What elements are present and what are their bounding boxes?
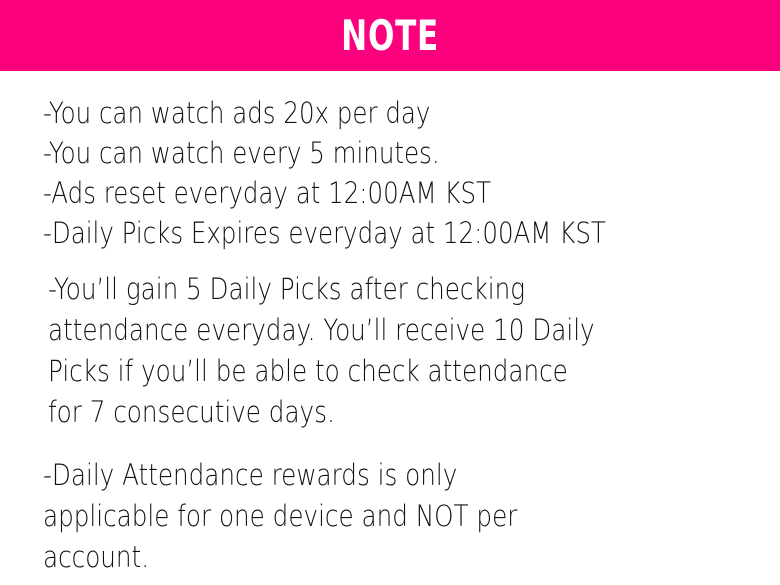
note-line: for 7 consecutive days. [48, 392, 670, 433]
note-body: -You can watch ads 20x per day -You can … [0, 71, 780, 585]
note-line: account. [43, 537, 669, 578]
note-header-band: NOTE [0, 0, 780, 71]
note-card: NOTE -You can watch ads 20x per day -You… [0, 0, 780, 585]
note-block-daily-picks: -You’ll gain 5 Daily Picks after checkin… [0, 253, 780, 433]
note-line: -Daily Attendance rewards is only [43, 455, 669, 496]
note-line: -You’ll gain 5 Daily Picks after checkin… [48, 269, 670, 310]
page-title: NOTE [341, 15, 439, 57]
note-line: attendance everyday. You’ll receive 10 D… [48, 310, 670, 351]
note-line: -You can watch ads 20x per day [43, 93, 666, 133]
note-block-attendance: -Daily Attendance rewards is only applic… [0, 433, 780, 578]
note-line: -You can watch every 5 minutes. [43, 133, 666, 173]
note-block-rules: -You can watch ads 20x per day -You can … [0, 71, 780, 253]
note-line: -Daily Picks Expires everyday at 12:00AM… [43, 213, 666, 253]
note-line: Picks if you’ll be able to check attenda… [48, 351, 670, 392]
note-line: applicable for one device and NOT per [43, 496, 669, 537]
note-line: -Ads reset everyday at 12:00AM KST [43, 173, 666, 213]
